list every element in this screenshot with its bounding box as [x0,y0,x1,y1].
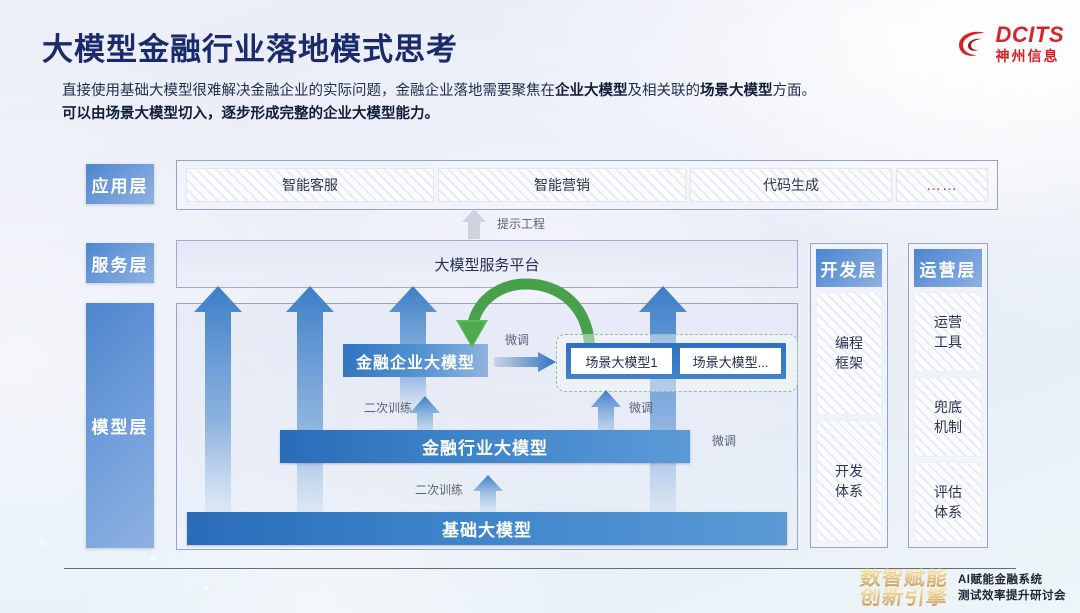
application-item-code-generation[interactable]: 代码生成 [690,168,892,202]
logo-chinese: 神州信息 [996,49,1065,63]
background-speck [205,586,209,590]
retrain-caption-enterprise: 二次训练 [364,399,412,416]
dcits-logo-text: DCITS 神州信息 [996,24,1065,63]
dev-cell-programming-framework[interactable]: 编程框架 [816,292,882,415]
subtitle-emph-enterprise: 企业大模型 [555,83,628,99]
layer-label-service: 服务层 [86,243,154,283]
industry-model-box[interactable]: 金融行业大模型 [280,430,690,463]
logo-english: DCITS [996,24,1065,46]
background-speck [150,556,155,561]
event-watermark: 数智赋能 创新引擎 AI赋能金融系统 测试效率提升研讨会 [860,569,1066,607]
layer-label-application: 应用层 [86,164,154,204]
dcits-logo: DCITS 神州信息 [955,24,1065,63]
prompt-engineering-caption: 提示工程 [497,215,545,232]
page-subtitle: 直接使用基础大模型很难解决金融企业的实际问题，金融企业落地需要聚焦在企业大模型及… [62,80,1012,126]
dev-layer-title: 开发层 [816,249,882,287]
prompt-engineering-arrow [460,209,488,239]
scene-model-inner-box: 场景大模型1 场景大模型... [566,343,786,379]
subtitle-text-3: 方面。 [773,83,817,99]
scene-model-n[interactable]: 场景大模型... [680,348,781,374]
event-title-line-2: 测试效率提升研讨会 [958,588,1066,604]
event-title-line-1: AI赋能金融系统 [958,572,1066,588]
subtitle-line-2: 可以由场景大模型切入，逐步形成完整的企业大模型能力。 [62,106,439,122]
finetune-caption-under-scene: 微调 [629,399,653,416]
ops-layer-title: 运营层 [914,249,982,287]
event-logo: 数智赋能 创新引擎 [860,569,948,607]
scene-model-1[interactable]: 场景大模型1 [571,348,672,374]
ops-cell-evaluation-system[interactable]: 评估体系 [914,462,982,542]
application-item-more[interactable]: …… [896,168,988,202]
retrain-caption-industry: 二次训练 [415,481,463,498]
ops-layer-column: 运营层 运营工具 兜底机制 评估体系 [908,243,988,548]
background-speck [38,540,45,547]
dev-cell-dev-system[interactable]: 开发体系 [816,420,882,543]
application-item-marketing[interactable]: 智能营销 [438,168,686,202]
dcits-swirl-icon [955,27,989,61]
dev-layer-column: 开发层 编程框架 开发体系 [810,243,888,548]
finetune-caption-far-right: 微调 [712,432,736,449]
ops-cell-operation-tools[interactable]: 运营工具 [914,292,982,372]
event-title: AI赋能金融系统 测试效率提升研讨会 [958,572,1066,604]
page-title: 大模型金融行业落地模式思考 [42,24,458,69]
ops-cell-fallback-mechanism[interactable]: 兜底机制 [914,377,982,457]
retrain-arrow-industry [472,475,504,513]
application-item-customer-service[interactable]: 智能客服 [186,168,434,202]
subtitle-text-1: 直接使用基础大模型很难解决金融企业的实际问题，金融企业落地需要聚焦在 [62,83,555,99]
event-logo-line-2: 创新引擎 [859,588,949,607]
subtitle-text-2: 及相关联的 [628,83,701,99]
subtitle-emph-scene: 场景大模型 [700,83,773,99]
layer-label-model: 模型层 [86,303,154,548]
foundation-model-box[interactable]: 基础大模型 [187,512,787,545]
more-dots-label: …… [926,177,958,194]
